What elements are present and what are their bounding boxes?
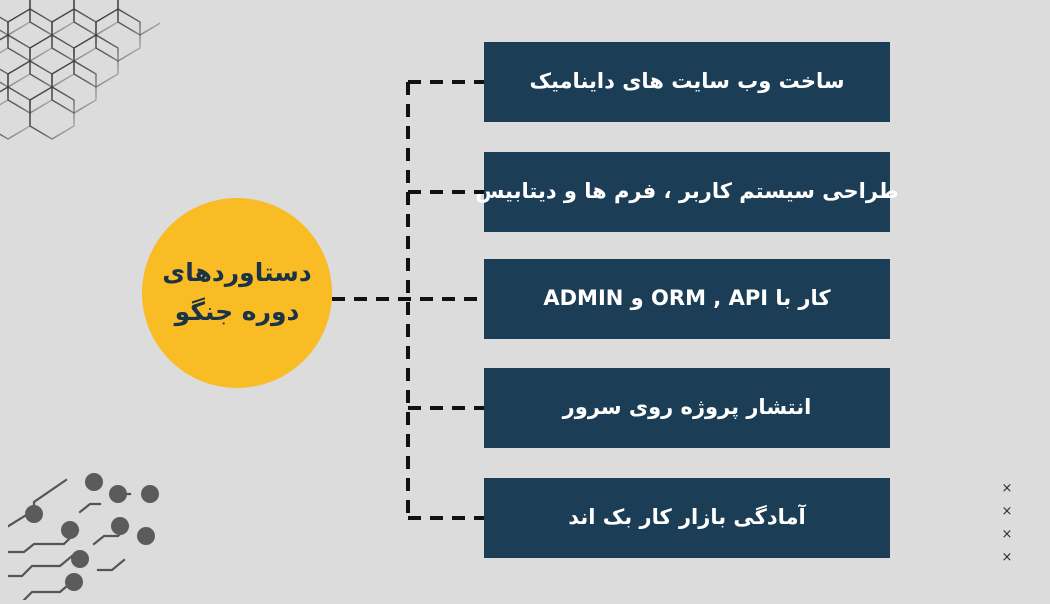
topic-box-5[interactable]: آمادگی بازار کار بک اند [484, 478, 890, 558]
topic-box-3[interactable]: کار با ORM , API و ADMIN [484, 259, 890, 339]
topic-box-label: ساخت وب سایت های داینامیک [529, 68, 844, 95]
topic-box-2[interactable]: طراحی سیستم کاربر ، فرم ها و دیتابیس [484, 152, 890, 232]
topic-box-4[interactable]: انتشار پروژه روی سرور [484, 368, 890, 448]
center-node-line-1: دستاوردهای [162, 254, 311, 293]
topic-box-1[interactable]: ساخت وب سایت های داینامیک [484, 42, 890, 122]
center-node-line-2: دوره جنگو [175, 293, 300, 332]
topic-box-label: طراحی سیستم کاربر ، فرم ها و دیتابیس [475, 178, 898, 205]
center-node: دستاوردهای دوره جنگو [142, 198, 332, 388]
topic-box-label: آمادگی بازار کار بک اند [568, 504, 806, 531]
topic-box-label: کار با ORM , API و ADMIN [543, 285, 830, 312]
infographic-canvas: × × × × دستاوردهای دوره جنگو ساخت وب سای… [0, 0, 1050, 600]
topic-box-label: انتشار پروژه روی سرور [563, 394, 812, 421]
